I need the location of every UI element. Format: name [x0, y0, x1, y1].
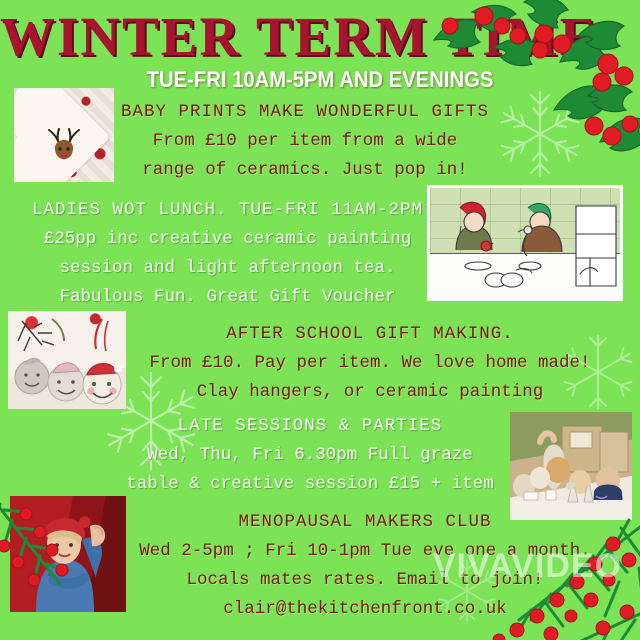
section-ladies-wot-lunch: LADIES WOT LUNCH. TUE-FRI 11AM-2PM £25pp… [20, 196, 435, 312]
section-ladies-wot-lunch-heading: LADIES WOT LUNCH. TUE-FRI 11AM-2PM [20, 196, 435, 225]
contact-email[interactable]: clair@thekitchenfront.co.uk [130, 595, 600, 624]
section-late-sessions-line-1: Wed, Thu, Fri 6.30pm Full graze [105, 441, 515, 470]
section-ladies-wot-lunch-line-3: Fabulous Fun. Great Gift Voucher [20, 283, 435, 312]
poster-subtitle: TUE-FRI 10AM-5PM AND EVENINGS [118, 68, 523, 92]
section-ladies-wot-lunch-line-2: session and light afternoon tea. [20, 254, 435, 283]
section-baby-prints: BABY PRINTS MAKE WONDERFUL GIFTS From £1… [95, 98, 515, 185]
photo-clay-santas [8, 311, 126, 409]
photo-party-table [510, 412, 632, 520]
party-figures [510, 412, 632, 520]
reindeer-footprint-icon [38, 113, 90, 165]
photo-ladies-lunch [427, 185, 623, 301]
clay-santa-ornaments [8, 311, 126, 409]
section-after-school-line-1: From £10. Pay per item. We love home mad… [125, 349, 615, 378]
section-ladies-wot-lunch-line-1: £25pp inc creative ceramic painting [20, 225, 435, 254]
section-menopausal-makers-line-1: Wed 2-5pm ; Fri 10-1pm Tue eve one a mon… [130, 537, 600, 566]
photo-rosie-pose [10, 496, 126, 612]
section-menopausal-makers-heading: MENOPAUSAL MAKERS CLUB [130, 508, 600, 537]
section-menopausal-makers-line-2: Locals mates rates. Email to join! [130, 566, 600, 595]
section-late-sessions-heading: LATE SESSIONS & PARTIES [105, 412, 515, 441]
section-baby-prints-heading: BABY PRINTS MAKE WONDERFUL GIFTS [95, 98, 515, 127]
rosie-figure [10, 496, 126, 612]
poster-canvas: WINTER TERM TIME TUE-FRI 10AM-5PM AND EV… [0, 0, 640, 640]
section-after-school: AFTER SCHOOL GIFT MAKING. From £10. Pay … [125, 320, 615, 407]
section-late-sessions-line-2: table & creative session £15 + item [105, 470, 515, 499]
lunch-illustration-figures [430, 188, 620, 298]
section-after-school-line-2: Clay hangers, or ceramic painting [125, 378, 615, 407]
section-late-sessions: LATE SESSIONS & PARTIES Wed, Thu, Fri 6.… [105, 412, 515, 499]
section-after-school-heading: AFTER SCHOOL GIFT MAKING. [125, 320, 615, 349]
section-baby-prints-line-2: range of ceramics. Just pop in! [95, 156, 515, 185]
section-baby-prints-line-1: From £10 per item from a wide [95, 127, 515, 156]
poster-title: WINTER TERM TIME [0, 8, 500, 66]
section-menopausal-makers: MENOPAUSAL MAKERS CLUB Wed 2-5pm ; Fri 1… [130, 508, 600, 624]
